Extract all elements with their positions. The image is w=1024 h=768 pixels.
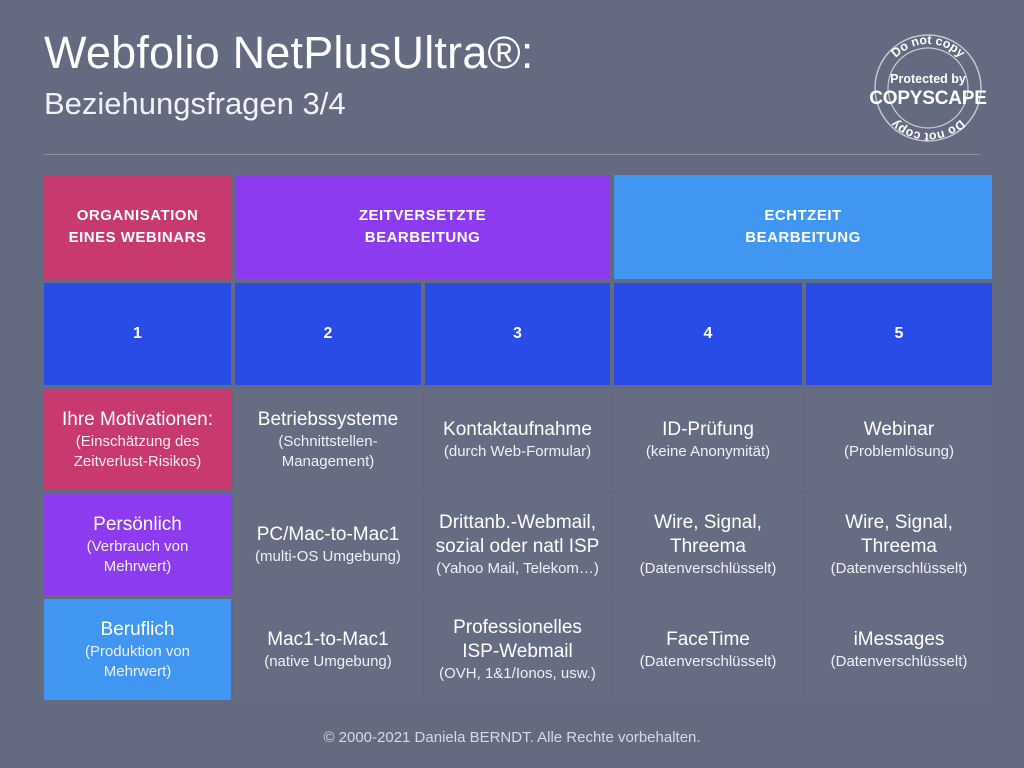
cell-sub-line1: (Einschätzung des xyxy=(76,432,199,452)
cell-sub-line1: (Datenverschlüsselt) xyxy=(831,559,968,579)
page-subtitle: Beziehungsfragen 3/4 xyxy=(44,84,980,124)
slide-header: Webfolio NetPlusUltra®: Beziehungsfragen… xyxy=(44,26,980,124)
svg-text:Protected by: Protected by xyxy=(890,72,966,86)
cell-title: Persönlich xyxy=(93,513,182,537)
cell-professionelles-isp-webmail: ProfessionellesISP-Webmail (OVH, 1&1/Ion… xyxy=(425,599,610,700)
cell-sub-line2: Management) xyxy=(282,452,375,472)
cell-title: Mac1-to-Mac1 xyxy=(267,628,388,652)
column-number-5: 5 xyxy=(806,283,992,385)
cell-motivationen: Ihre Motivationen: (Einschätzung des Zei… xyxy=(44,389,231,490)
cell-sub-line1: (multi-OS Umgebung) xyxy=(255,547,401,567)
cell-sub-line1: (Problemlösung) xyxy=(844,442,954,462)
cell-sub-line1: (Schnittstellen- xyxy=(278,432,377,452)
header-divider xyxy=(44,154,980,155)
page-title: Webfolio NetPlusUltra®: xyxy=(44,26,980,80)
cell-title: Wire, Signal,Threema xyxy=(845,511,953,559)
cell-mac1-to-mac1: Mac1-to-Mac1 (native Umgebung) xyxy=(235,599,421,700)
cell-title: ID-Prüfung xyxy=(662,418,754,442)
svg-text:Do not copy: Do not copy xyxy=(888,117,968,144)
cell-title: PC/Mac-to-Mac1 xyxy=(257,523,400,547)
footer-copyright: © 2000-2021 Daniela BERNDT. Alle Rechte … xyxy=(0,729,1024,746)
slide-root: Webfolio NetPlusUltra®: Beziehungsfragen… xyxy=(0,0,1024,768)
cell-title: Ihre Motivationen: xyxy=(62,408,213,432)
table-number-row: 1 2 3 4 5 xyxy=(44,283,980,385)
group-header-organisation: ORGANISATION EINES WEBINARS xyxy=(44,175,231,279)
cell-sub-line2: Mehrwert) xyxy=(104,557,172,577)
cell-wire-signal-threema-5: Wire, Signal,Threema (Datenverschlüsselt… xyxy=(806,494,992,595)
cell-beruflich: Beruflich (Produktion von Mehrwert) xyxy=(44,599,231,700)
table-row: Beruflich (Produktion von Mehrwert) Mac1… xyxy=(44,599,980,700)
cell-sub-line1: (OVH, 1&1/Ionos, usw.) xyxy=(439,664,596,684)
column-number-3: 3 xyxy=(425,283,610,385)
cell-title: iMessages xyxy=(854,628,945,652)
cell-title: Beruflich xyxy=(101,618,175,642)
svg-text:COPYSCAPE: COPYSCAPE xyxy=(869,88,987,109)
cell-betriebssysteme: Betriebssysteme (Schnittstellen- Managem… xyxy=(235,389,421,490)
cell-title: ProfessionellesISP-Webmail xyxy=(453,616,582,664)
cell-sub-line1: (keine Anonymität) xyxy=(646,442,770,462)
cell-sub-line2: Mehrwert) xyxy=(104,662,172,682)
cell-persoenlich: Persönlich (Verbrauch von Mehrwert) xyxy=(44,494,231,595)
cell-title: Betriebssysteme xyxy=(258,408,398,432)
cell-sub-line1: (Yahoo Mail, Telekom…) xyxy=(436,559,599,579)
cell-title: Drittanb.-Webmail,sozial oder natl ISP xyxy=(436,511,600,559)
cell-drittanbieter-webmail: Drittanb.-Webmail,sozial oder natl ISP (… xyxy=(425,494,610,595)
cell-sub-line1: (Datenverschlüsselt) xyxy=(640,652,777,672)
cell-id-pruefung: ID-Prüfung (keine Anonymität) xyxy=(614,389,802,490)
cell-sub-line1: (durch Web-Formular) xyxy=(444,442,591,462)
cell-sub-line1: (Verbrauch von xyxy=(87,537,189,557)
cell-facetime: FaceTime (Datenverschlüsselt) xyxy=(614,599,802,700)
copyscape-badge-icon: Do not copy Do not copy Protected by COP… xyxy=(868,28,988,148)
group-header-zeitversetzte: ZEITVERSETZTE BEARBEITUNG xyxy=(235,175,610,279)
group-header-organisation-line2: EINES WEBINARS xyxy=(69,227,207,249)
column-number-5-label: 5 xyxy=(895,325,904,343)
cell-wire-signal-threema-4: Wire, Signal,Threema (Datenverschlüsselt… xyxy=(614,494,802,595)
column-number-3-label: 3 xyxy=(513,325,522,343)
column-number-2: 2 xyxy=(235,283,421,385)
group-header-echtzeit-line1: ECHTZEIT xyxy=(764,205,841,227)
cell-title: FaceTime xyxy=(666,628,750,652)
cell-imessages: iMessages (Datenverschlüsselt) xyxy=(806,599,992,700)
table-group-header-row: ORGANISATION EINES WEBINARS ZEITVERSETZT… xyxy=(44,175,980,279)
cell-pc-mac-to-mac1: PC/Mac-to-Mac1 (multi-OS Umgebung) xyxy=(235,494,421,595)
cell-title: Wire, Signal,Threema xyxy=(654,511,762,559)
group-header-echtzeit-line2: BEARBEITUNG xyxy=(745,227,861,249)
column-number-2-label: 2 xyxy=(324,325,333,343)
column-number-4: 4 xyxy=(614,283,802,385)
table-row: Ihre Motivationen: (Einschätzung des Zei… xyxy=(44,389,980,490)
cell-sub-line1: (Datenverschlüsselt) xyxy=(831,652,968,672)
group-header-zeitversetzte-line1: ZEITVERSETZTE xyxy=(359,205,486,227)
cell-title: Kontaktaufnahme xyxy=(443,418,592,442)
table-row: Persönlich (Verbrauch von Mehrwert) PC/M… xyxy=(44,494,980,595)
column-number-1: 1 xyxy=(44,283,231,385)
group-header-zeitversetzte-line2: BEARBEITUNG xyxy=(365,227,481,249)
cell-sub-line1: (Datenverschlüsselt) xyxy=(640,559,777,579)
cell-kontaktaufnahme: Kontaktaufnahme (durch Web-Formular) xyxy=(425,389,610,490)
group-header-organisation-line1: ORGANISATION xyxy=(77,205,199,227)
cell-sub-line2: Zeitverlust-Risikos) xyxy=(74,452,202,472)
comparison-table: ORGANISATION EINES WEBINARS ZEITVERSETZT… xyxy=(44,175,980,700)
cell-title: Webinar xyxy=(864,418,934,442)
cell-sub-line1: (Produktion von xyxy=(85,642,190,662)
column-number-1-label: 1 xyxy=(133,325,142,343)
cell-webinar: Webinar (Problemlösung) xyxy=(806,389,992,490)
cell-sub-line1: (native Umgebung) xyxy=(264,652,392,672)
column-number-4-label: 4 xyxy=(704,325,713,343)
svg-text:Do not copy: Do not copy xyxy=(888,33,967,60)
group-header-echtzeit: ECHTZEIT BEARBEITUNG xyxy=(614,175,992,279)
